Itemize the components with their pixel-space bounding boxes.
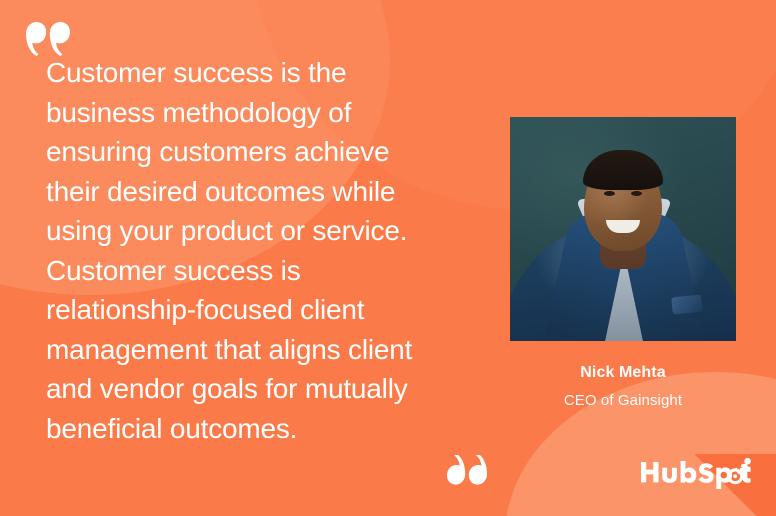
portrait-eye-left <box>604 191 615 196</box>
hubspot-logo <box>639 456 757 490</box>
portrait-eye-right <box>631 191 642 196</box>
portrait-pocket-square <box>671 294 703 314</box>
opening-quotation-mark-icon <box>26 22 70 56</box>
author-title: CEO of Gainsight <box>500 392 746 409</box>
closing-quotation-mark-icon <box>447 455 487 486</box>
quote-text: Customer success is the business methodo… <box>46 53 476 448</box>
quote-card: Customer success is the business methodo… <box>0 0 776 516</box>
portrait-hair <box>583 150 663 190</box>
portrait-backdrop <box>510 117 736 341</box>
author-portrait-photo <box>510 117 736 341</box>
attribution: Nick Mehta CEO of Gainsight <box>500 364 746 409</box>
author-name: Nick Mehta <box>500 364 746 382</box>
